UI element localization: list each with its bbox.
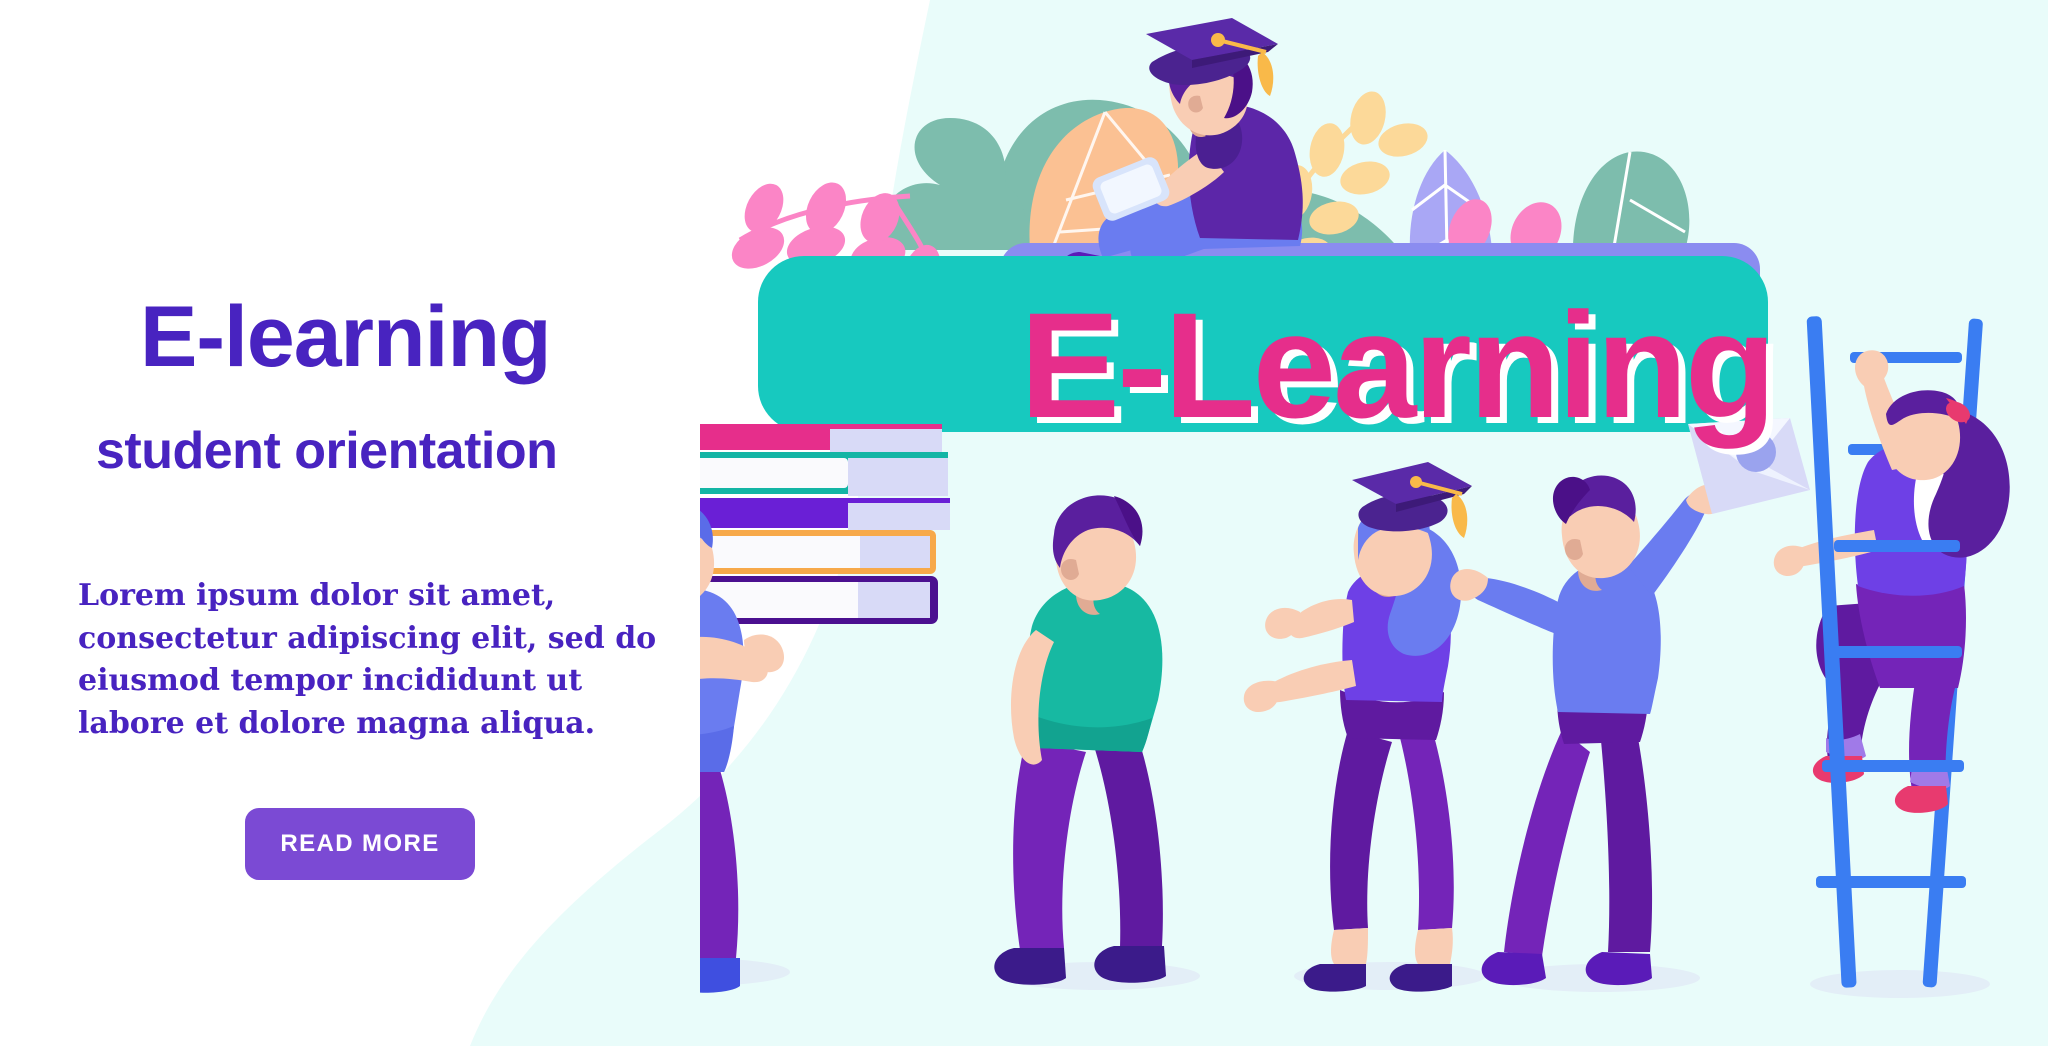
walking-graduate-woman (1244, 462, 1486, 992)
illustration (700, 0, 2048, 1046)
cheering-student-with-diploma (1450, 418, 1810, 992)
hero-banner: E-learning student orientation Lorem ips… (0, 0, 2048, 1046)
woman-climbing-ladder (1774, 318, 2010, 998)
sage-blob-left-3 (880, 118, 1026, 250)
ground-shadow (1810, 970, 1990, 998)
hero-copy: E-learning student orientation Lorem ips… (0, 0, 700, 1046)
read-more-button[interactable]: READ MORE (245, 808, 475, 880)
graduation-cap-icon (1352, 462, 1472, 538)
page-title: E-learning (140, 294, 551, 380)
banner-teal-panel (758, 256, 1768, 432)
book-stack (700, 424, 950, 624)
page-subtitle: student orientation (96, 425, 557, 477)
hero-body-text: Lorem ipsum dolor sit amet, consectetur … (78, 575, 658, 745)
walking-student-teal-shirt (994, 495, 1200, 990)
